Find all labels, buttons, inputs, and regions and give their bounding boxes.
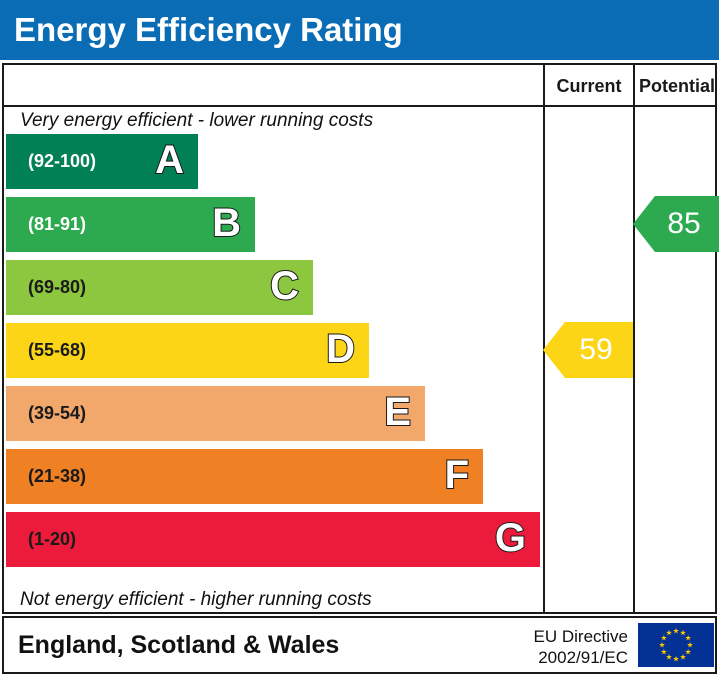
- potential-rating-arrow: 85: [633, 196, 719, 252]
- header-divider: [4, 105, 715, 107]
- current-column-header: Current: [545, 74, 633, 98]
- band-range-f: (21-38): [28, 449, 86, 504]
- caption-very-efficient: Very energy efficient - lower running co…: [20, 110, 373, 132]
- chart-title-bar: Energy Efficiency Rating: [0, 0, 719, 60]
- potential-column-divider: [633, 65, 635, 612]
- rating-band-g: (1-20)G: [6, 512, 540, 567]
- rating-band-f: (21-38)F: [6, 449, 483, 504]
- band-range-g: (1-20): [28, 512, 76, 567]
- band-range-a: (92-100): [28, 134, 96, 189]
- band-range-d: (55-68): [28, 323, 86, 378]
- directive-line-1: EU Directive: [502, 626, 628, 647]
- caption-not-efficient: Not energy efficient - higher running co…: [20, 589, 372, 611]
- band-letter-b: B: [212, 197, 241, 252]
- rating-grid: Current Potential Very energy efficient …: [2, 63, 717, 614]
- potential-rating-value: 85: [655, 196, 713, 252]
- band-letter-e: E: [384, 386, 411, 441]
- rating-band-e: (39-54)E: [6, 386, 425, 441]
- band-letter-f: F: [445, 449, 469, 504]
- band-letter-d: D: [326, 323, 355, 378]
- rating-band-d: (55-68)D: [6, 323, 369, 378]
- rating-band-b: (81-91)B: [6, 197, 255, 252]
- epc-energy-efficiency-chart: Energy Efficiency Rating Current Potenti…: [0, 0, 719, 676]
- band-range-c: (69-80): [28, 260, 86, 315]
- directive-line-2: 2002/91/EC: [502, 647, 628, 668]
- current-rating-value: 59: [565, 322, 627, 378]
- band-letter-c: C: [270, 260, 299, 315]
- rating-band-c: (69-80)C: [6, 260, 313, 315]
- band-range-e: (39-54): [28, 386, 86, 441]
- band-letter-g: G: [495, 512, 526, 567]
- potential-column-header: Potential: [635, 74, 719, 98]
- footer-directive: EU Directive 2002/91/EC: [502, 626, 628, 668]
- band-letter-a: A: [155, 134, 184, 189]
- current-rating-arrow: 59: [543, 322, 633, 378]
- footer-region-label: England, Scotland & Wales: [18, 629, 339, 661]
- eu-flag-icon: [638, 623, 714, 667]
- rating-band-a: (92-100)A: [6, 134, 198, 189]
- chart-footer: England, Scotland & Wales EU Directive 2…: [2, 616, 717, 674]
- page-title: Energy Efficiency Rating: [14, 9, 403, 51]
- band-range-b: (81-91): [28, 197, 86, 252]
